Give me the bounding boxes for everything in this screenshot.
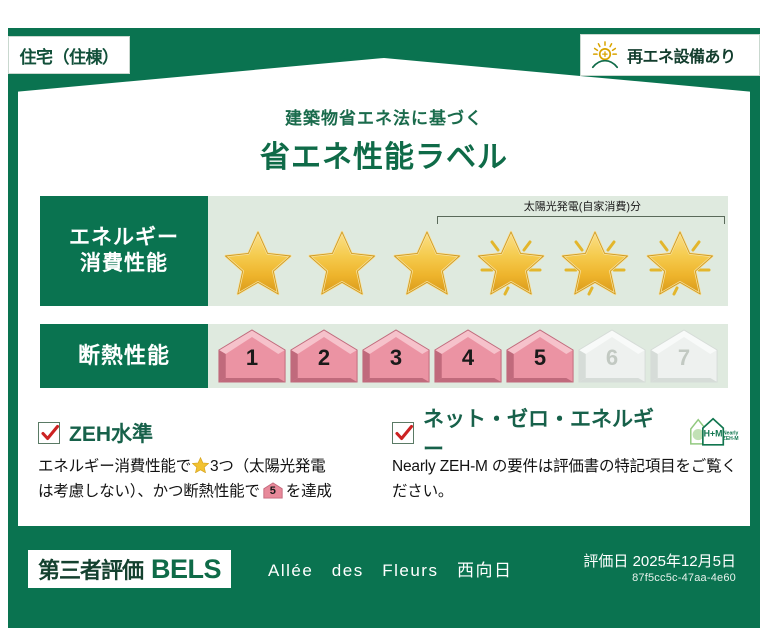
star-4-solar [472,226,550,300]
criteria-nze-header: ネット・ゼロ・エネルギー H+M Nearly ZEH-M [392,418,740,448]
sun-icon [589,40,621,70]
evaluation-date: 評価日 2025年12月5日 [583,550,736,571]
renewable-equipment-badge: 再エネ設備あり [580,34,760,76]
star-1 [219,226,297,300]
insulation-grade-2: 2 [288,328,360,384]
energy-head-line2: 消費性能 [80,251,168,277]
bels-jp-label: 第三者評価 [38,553,143,585]
insulation-head-label: 断熱性能 [78,342,170,370]
zeh-desc-stars: 3つ（太陽光発電 [210,458,326,475]
nze-checkbox[interactable] [392,422,414,444]
energy-performance-head: エネルギー 消費性能 [40,196,208,306]
evaluation-date-value: 2025年12月5日 [633,553,736,570]
bels-en-label: BELS [151,554,221,585]
insulation-grade-label: 4 [432,345,504,371]
criteria-net-zero-energy: ネット・ゼロ・エネルギー H+M Nearly ZEH-M Nearly ZEH… [392,418,740,504]
insulation-performance-row: 断熱性能 1 2 3 [40,324,728,388]
energy-performance-row: エネルギー 消費性能 太陽光発電(自家消費)分 [40,196,728,306]
insulation-grade-label: 2 [288,345,360,371]
zeh-m-logo-icon: H+M Nearly ZEH-M [688,416,740,450]
criteria-zeh-header: ZEH水準 [38,418,378,448]
insulation-grade-3: 3 [360,328,432,384]
inline-house-value: 5 [262,482,284,499]
star-rating-group [216,224,722,302]
criteria-zeh-standard: ZEH水準 エネルギー消費性能で 3つ（太陽光発電 は考慮しない）、かつ断熱性能… [38,418,378,504]
star-5-solar [556,226,634,300]
svg-text:H+M: H+M [704,428,723,438]
insulation-grade-4: 4 [432,328,504,384]
evaluation-date-label: 評価日 [583,553,628,570]
insulation-performance-head: 断熱性能 [40,324,208,388]
energy-star-panel: 太陽光発電(自家消費)分 [208,196,728,306]
zeh-title: ZEH水準 [69,418,153,448]
building-name: Allée des Fleurs 西向日 [268,556,512,581]
bels-logo: 第三者評価 BELS [28,550,231,588]
zeh-description: エネルギー消費性能で 3つ（太陽光発電 は考慮しない）、かつ断熱性能で 5 を達… [38,454,378,504]
label-title: 省エネ性能ラベル [0,132,768,176]
star-2 [303,226,381,300]
insulation-grade-label: 7 [648,345,720,371]
solar-annotation-label: 太陽光発電(自家消費)分 [437,198,728,214]
housing-type-tag: 住宅（住棟） [8,36,130,74]
insulation-grade-label: 1 [216,345,288,371]
zeh-desc-part3: を達成 [286,483,332,500]
insulation-grade-6: 6 [576,328,648,384]
insulation-grade-group: 1 2 3 4 5 [216,328,720,384]
energy-performance-label: 住宅（住棟） 再エネ設備あり 建築物省エネ法に基づく 省エ [0,0,768,640]
zeh-checkbox[interactable] [38,422,60,444]
nze-description: Nearly ZEH-M の要件は評価書の特記項目をご覧ください。 [392,454,740,504]
svg-text:ZEH-M: ZEH-M [723,436,739,442]
insulation-grade-label: 6 [576,345,648,371]
energy-head-line1: エネルギー [69,225,179,251]
insulation-grade-5: 5 [504,328,576,384]
inline-star-icon [192,456,209,472]
housing-type-label: 住宅（住棟） [20,43,119,68]
renewable-badge-label: 再エネ設備あり [627,43,736,67]
insulation-grade-7: 7 [648,328,720,384]
inline-house-icon: 5 [262,482,284,499]
insulation-grade-label: 5 [504,345,576,371]
star-6-solar [641,226,719,300]
footer-bar: 第三者評価 BELS Allée des Fleurs 西向日 評価日 2025… [18,538,750,612]
star-3 [388,226,466,300]
insulation-grade-label: 3 [360,345,432,371]
insulation-grade-1: 1 [216,328,288,384]
insulation-grade-panel: 1 2 3 4 5 [208,324,728,388]
zeh-desc-part1: エネルギー消費性能で [38,458,191,475]
evaluation-id: 87f5cc5c-47aa-4e60 [632,572,736,584]
label-subtitle: 建築物省エネ法に基づく [0,104,768,129]
zeh-desc-part2: は考慮しない）、かつ断熱性能で [38,483,260,500]
solar-annotation-bracket [437,216,726,224]
